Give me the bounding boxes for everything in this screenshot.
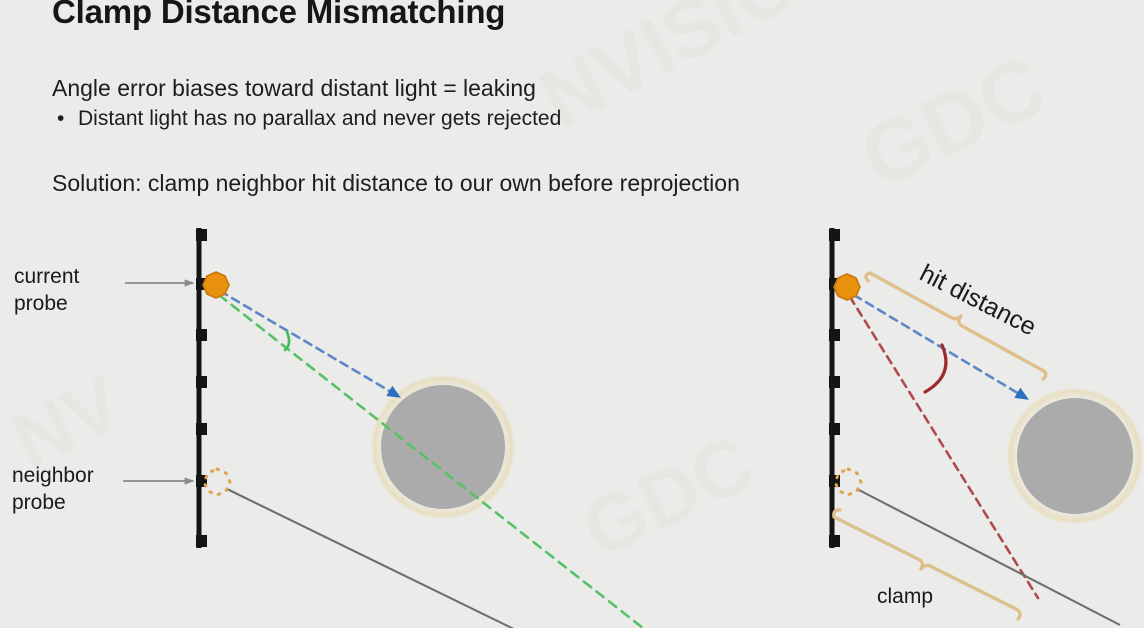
label-current-probe-line1: current [14,264,79,291]
right-panel [829,228,1144,625]
angle-arc-right [925,345,946,392]
left-panel [123,228,648,628]
wall-tick [196,423,207,435]
label-neighbor-probe-line2: probe [12,490,94,517]
occluder-disc-right [1017,398,1133,514]
probe-current-left[interactable] [203,272,229,298]
probe-neighbor-left[interactable] [204,469,230,495]
ray-blue-left [220,291,398,396]
wall-tick [829,376,840,388]
occluder-disc-left [381,385,505,509]
label-current-probe-line2: probe [14,291,79,318]
wall-tick [196,229,207,241]
label-current-probe: current probe [14,264,79,318]
probe-current-right[interactable] [834,274,860,300]
wall-tick [829,423,840,435]
wall-tick [829,329,840,341]
wall-tick [829,229,840,241]
wall-tick [196,376,207,388]
wall-tick [196,329,207,341]
wall-tick [196,535,207,547]
slide-root: NVISION GDC NV GDC Clamp Distance Mismat… [0,0,1144,628]
label-neighbor-probe-line1: neighbor [12,463,94,490]
label-neighbor-probe: neighbor probe [12,463,94,517]
label-clamp: clamp [877,585,933,609]
wall-tick [829,535,840,547]
